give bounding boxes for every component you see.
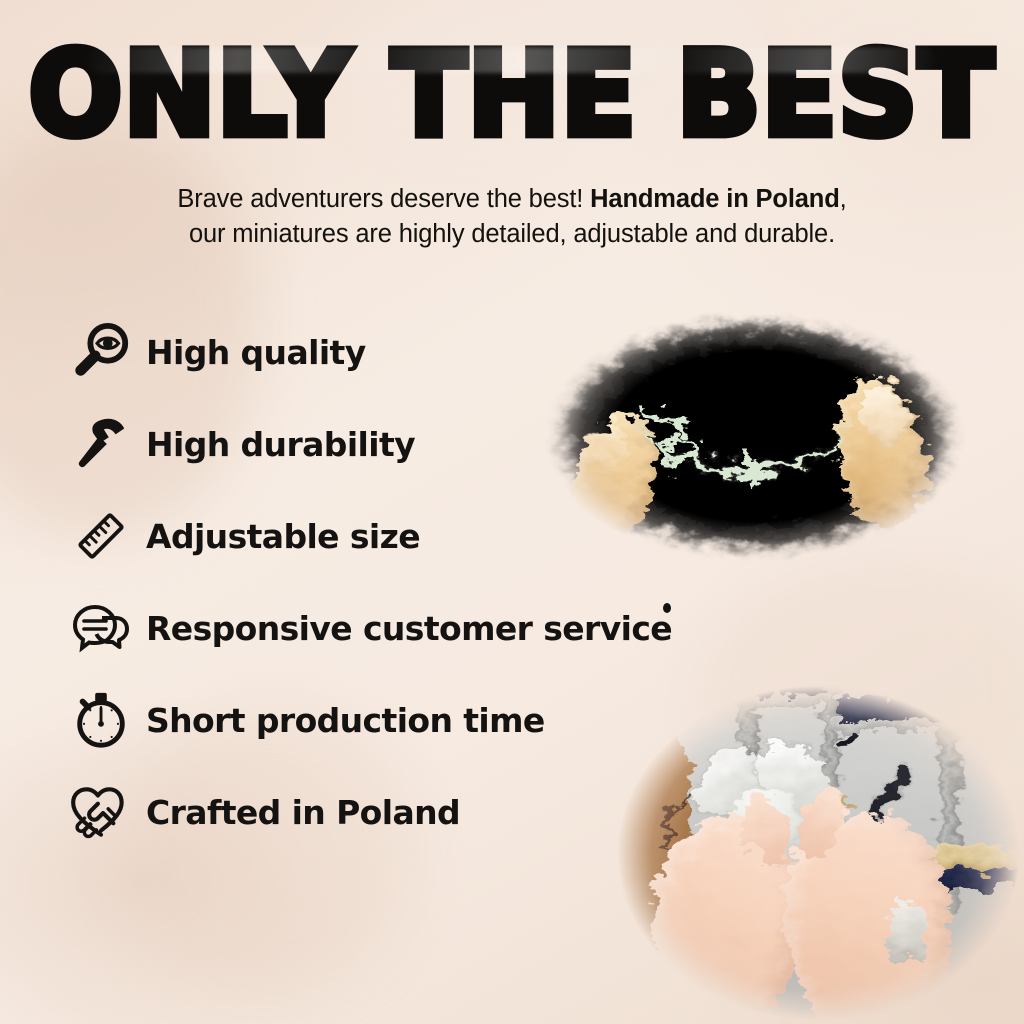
magnifier-eye-icon: [62, 316, 140, 388]
subtitle-tail-text: ,: [840, 185, 847, 213]
ruler-icon: [62, 500, 140, 572]
subtitle-line-1: Brave adventurers deserve the best! Hand…: [0, 182, 1024, 217]
promo-poster: ONLY THE BEST Brave adventurers deserve …: [0, 0, 1024, 1024]
feature-item-high-quality: High quality: [62, 306, 762, 398]
subtitle-lead-text: Brave adventurers deserve the best!: [177, 185, 590, 213]
title-block: ONLY THE BEST: [0, 36, 1024, 140]
feature-item-short-production-time: Short production time: [62, 674, 762, 766]
feature-label: Responsive customer service: [146, 609, 672, 648]
stopwatch-icon: [62, 684, 140, 756]
feature-item-crafted-in-poland: Crafted in Poland: [62, 766, 762, 858]
feature-list: High quality High durability Adj: [62, 306, 762, 858]
subtitle: Brave adventurers deserve the best! Hand…: [0, 182, 1024, 252]
subtitle-line-2: our miniatures are highly detailed, adju…: [0, 217, 1024, 252]
feature-label: High durability: [146, 425, 415, 464]
miniature-bits: [842, 692, 984, 710]
feature-item-high-durability: High durability: [62, 398, 762, 490]
feature-label: Crafted in Poland: [146, 793, 460, 832]
feature-item-adjustable-size: Adjustable size: [62, 490, 762, 582]
feature-label: Short production time: [146, 701, 545, 740]
feature-item-responsive-customer-service: Responsive customer service: [62, 582, 762, 674]
subtitle-bold-text: Handmade in Poland: [590, 185, 840, 213]
speech-bubbles-icon: [62, 592, 140, 664]
feature-label: High quality: [146, 333, 366, 372]
feature-label: Adjustable size: [146, 517, 420, 556]
handshake-heart-icon: [62, 776, 140, 848]
page-title: ONLY THE BEST: [29, 36, 995, 152]
hammer-icon: [62, 408, 140, 480]
page-title-text: ONLY THE BEST: [29, 26, 995, 163]
